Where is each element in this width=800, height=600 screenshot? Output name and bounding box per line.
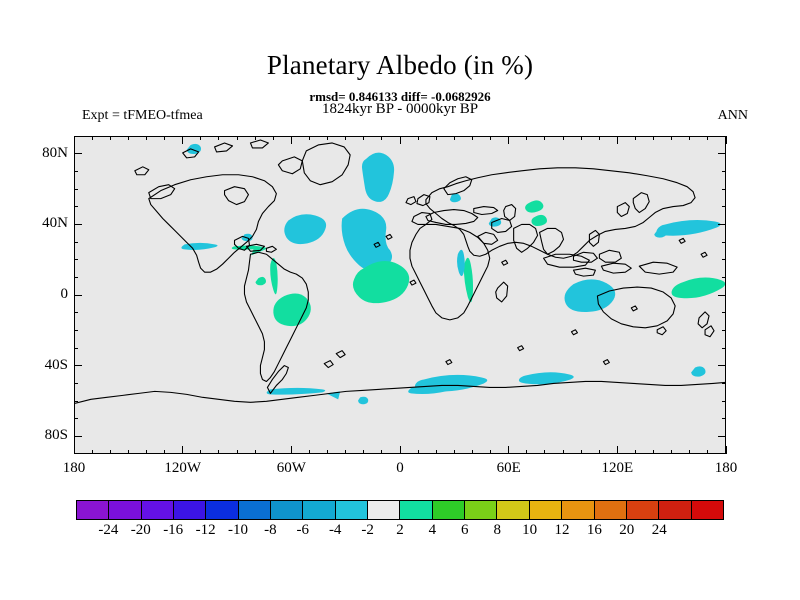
anomaly-peru-coast [270,258,278,294]
xtick-minor-top [200,136,201,140]
colorbar-band [595,501,627,519]
xtick-major [508,446,509,454]
ytick-major-right [718,153,726,154]
xtick-minor [309,450,310,454]
anomaly-indochina [525,200,543,212]
xtick-minor-top [707,136,708,140]
xtick-major-top [291,136,292,144]
anomaly-patches [181,144,725,404]
ytick-major-right [718,436,726,437]
xtick-minor [436,450,437,454]
ytick-major [74,224,82,225]
ytick-major-right [718,224,726,225]
colorbar-band [336,501,368,519]
xtick-minor [490,450,491,454]
anomaly-north-pacific-small [654,229,666,237]
ytick-major-right [718,295,726,296]
ytick-major [74,295,82,296]
colorbar-band [368,501,400,519]
xtick-major-top [617,136,618,144]
ytick-major [74,436,82,437]
ytick-label: 80S [8,427,68,444]
ytick-label: 0 [8,286,68,303]
xtick-minor-top [255,136,256,140]
xtick-label: 180 [696,460,756,477]
ytick-minor [74,171,78,172]
colorbar-band [465,501,497,519]
colorbar-band [530,501,562,519]
xtick-minor-top [128,136,129,140]
anomaly-indochina-2 [531,215,547,226]
ytick-minor [74,418,78,419]
anomaly-east-africa [464,258,473,303]
anomaly-congo-cyan [457,250,465,276]
anomaly-indian-ocean-east [564,279,615,312]
colorbar-band [77,501,109,519]
xtick-minor-top [599,136,600,140]
xtick-minor [92,450,93,454]
xtick-major-top [74,136,75,144]
xtick-major [400,446,401,454]
xtick-minor-top [146,136,147,140]
xtick-minor [255,450,256,454]
ytick-minor [74,348,78,349]
ytick-minor [74,330,78,331]
anomaly-south-atlantic [353,261,409,303]
xtick-major [291,446,292,454]
xtick-minor [635,450,636,454]
xtick-major [74,446,75,454]
ytick-minor [74,259,78,260]
anomaly-east-pacific-eq [181,243,217,250]
xtick-minor [128,450,129,454]
colorbar-band [239,501,271,519]
xtick-minor-top [472,136,473,140]
colorbar-band [692,501,723,519]
ytick-minor-right [722,189,726,190]
xtick-major [617,446,618,454]
xtick-minor [345,450,346,454]
xtick-label: 60W [261,460,321,477]
colorbar-band [271,501,303,519]
ytick-minor [74,401,78,402]
xtick-minor-top [436,136,437,140]
colorbar-band [497,501,529,519]
xtick-minor-top [490,136,491,140]
ytick-minor [74,277,78,278]
xtick-minor-top [689,136,690,140]
ytick-minor-right [722,401,726,402]
anomaly-antarctic-weddell [267,388,326,395]
ytick-minor-right [722,206,726,207]
anomaly-arctic-canada [187,144,201,154]
anomaly-greenland-norwegian-sea [362,153,394,202]
xtick-label: 60E [479,460,539,477]
xtick-minor-top [526,136,527,140]
xtick-minor-top [381,136,382,140]
xtick-minor-top [218,136,219,140]
xtick-minor-top [164,136,165,140]
ytick-label: 40S [8,357,68,374]
ytick-minor-right [722,277,726,278]
xtick-minor [671,450,672,454]
xtick-minor-top [418,136,419,140]
ytick-minor-right [722,348,726,349]
xtick-minor-top [454,136,455,140]
ytick-minor-right [722,312,726,313]
colorbar-band [627,501,659,519]
colorbar-band [206,501,238,519]
colorbar-tick-label: 24 [637,522,681,539]
xtick-minor [146,450,147,454]
ytick-minor-right [722,383,726,384]
xtick-minor [327,450,328,454]
ytick-minor-right [722,259,726,260]
xtick-major-top [508,136,509,144]
xtick-major [182,446,183,454]
ytick-minor [74,312,78,313]
ytick-label: 80N [8,145,68,162]
xtick-label: 120W [153,460,213,477]
xtick-minor-top [237,136,238,140]
xtick-minor-top [345,136,346,140]
xtick-minor [237,450,238,454]
ytick-major-right [718,365,726,366]
season-label: ANN [718,108,748,124]
ytick-minor-right [722,330,726,331]
xtick-minor [200,450,201,454]
anomaly-arabian-sea [489,217,501,226]
xtick-label: 180 [44,460,104,477]
xtick-minor [273,450,274,454]
colorbar [76,500,724,520]
ytick-minor-right [722,418,726,419]
ytick-minor [74,383,78,384]
anomaly-labrador-sea [284,214,326,244]
anomaly-equatorial-pacific-west [672,278,725,299]
xtick-minor [454,450,455,454]
anomaly-ross-sea [691,366,705,376]
xtick-minor-top [110,136,111,140]
xtick-minor [381,450,382,454]
colorbar-band [174,501,206,519]
colorbar-band [400,501,432,519]
xtick-minor [563,450,564,454]
xtick-minor [218,450,219,454]
xtick-major-top [400,136,401,144]
xtick-minor [599,450,600,454]
xtick-minor [526,450,527,454]
xtick-major [726,446,727,454]
ytick-minor-right [722,242,726,243]
xtick-label: 120E [587,460,647,477]
xtick-major-top [726,136,727,144]
ytick-major [74,365,82,366]
ytick-label: 40N [8,215,68,232]
xtick-minor-top [273,136,274,140]
ytick-minor-right [722,171,726,172]
colorbar-band [142,501,174,519]
xtick-minor [164,450,165,454]
colorbar-band [433,501,465,519]
xtick-minor [418,450,419,454]
xtick-minor-top [363,136,364,140]
ytick-minor [74,206,78,207]
xtick-label: 0 [370,460,430,477]
ytick-minor [74,189,78,190]
xtick-minor-top [544,136,545,140]
xtick-minor-top [563,136,564,140]
xtick-major-top [182,136,183,144]
xtick-minor [110,450,111,454]
xtick-minor-top [309,136,310,140]
xtick-minor-top [671,136,672,140]
xtick-minor [707,450,708,454]
xtick-minor-top [92,136,93,140]
colorbar-band [109,501,141,519]
xtick-minor [689,450,690,454]
experiment-label: Expt = tFMEO-tfmea [82,108,203,124]
colorbar-band [303,501,335,519]
xtick-minor-top [581,136,582,140]
world-map-svg [75,137,725,453]
xtick-minor [581,450,582,454]
ytick-minor [74,242,78,243]
page-title: Planetary Albedo (in %) [0,50,800,81]
xtick-minor-top [327,136,328,140]
xtick-minor-top [653,136,654,140]
xtick-minor [653,450,654,454]
anomaly-antarctic-fleck [358,397,368,405]
xtick-minor-top [635,136,636,140]
xtick-minor [363,450,364,454]
colorbar-band [659,501,691,519]
ytick-major [74,153,82,154]
xtick-minor [472,450,473,454]
xtick-minor [544,450,545,454]
anomaly-panama-fleck [255,277,266,285]
map-plot-area [74,136,726,454]
figure-canvas: Planetary Albedo (in %) rmsd= 0.846133 d… [0,0,800,600]
colorbar-band [562,501,594,519]
